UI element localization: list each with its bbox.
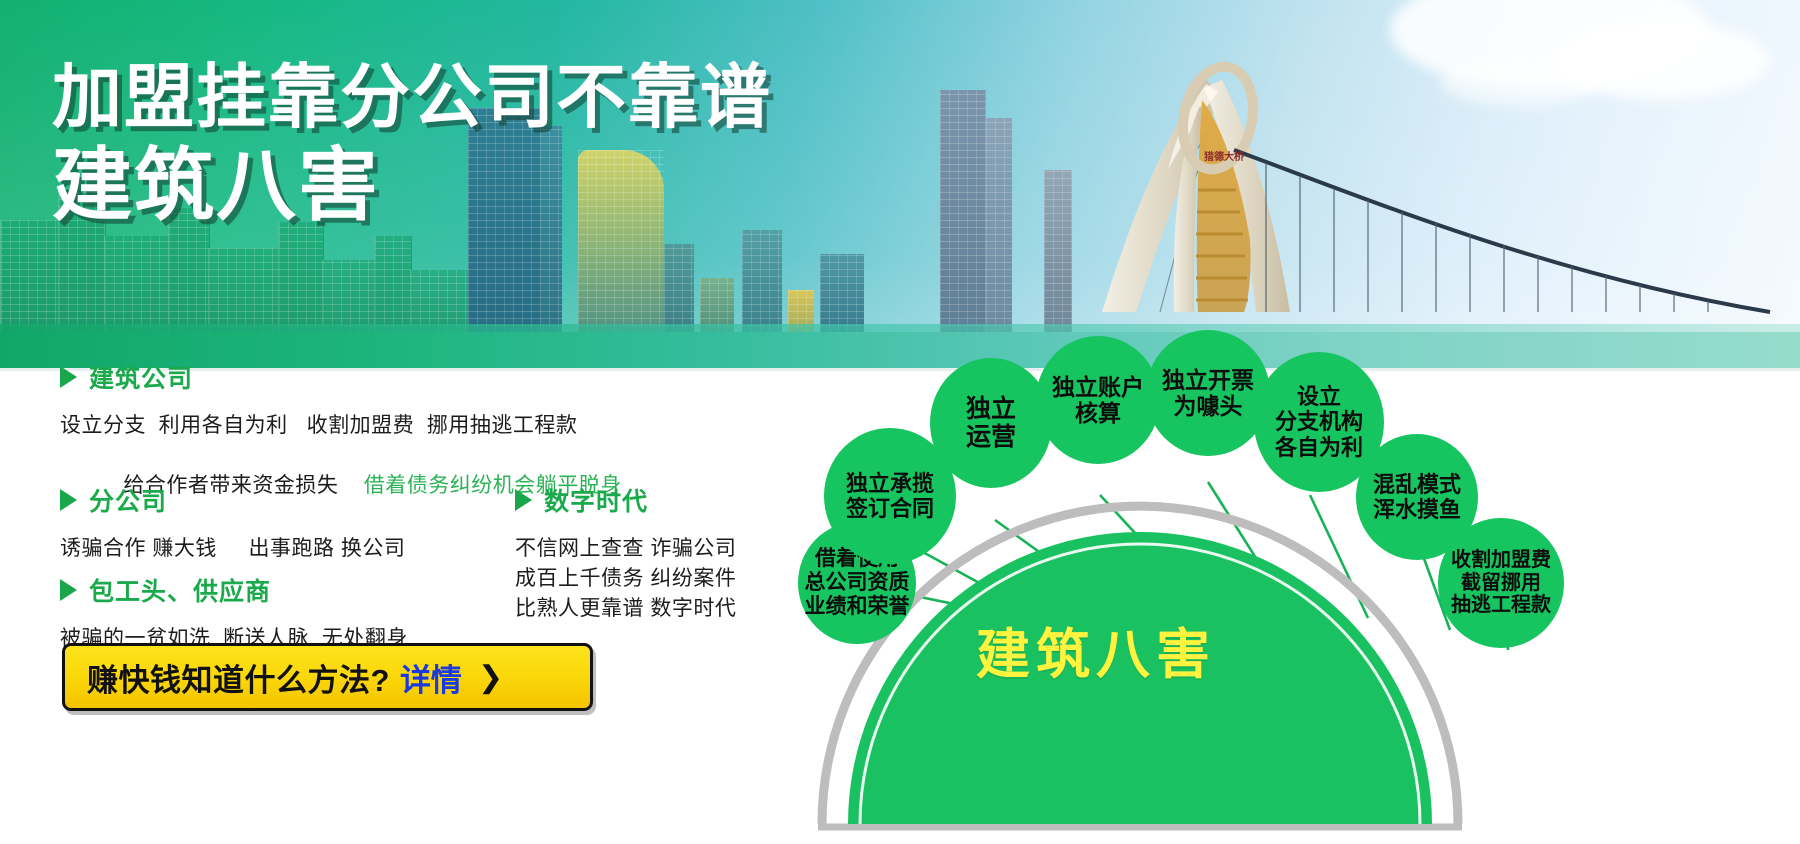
bridge-sign-label: 猎德大桥: [1204, 150, 1245, 163]
section-title: 包工头、供应商: [89, 572, 271, 608]
section-title: 数字时代: [544, 482, 648, 518]
section-title: 分公司: [89, 482, 167, 518]
section-body: 诱骗合作 赚大钱 出事跑路 换公司: [60, 534, 405, 564]
body-line: 不信网上查查 诈骗公司: [515, 534, 736, 564]
bubble-text: 收割加盟费 截留挪用 抽逃工程款: [1451, 549, 1551, 617]
hero-banner: 猎德大桥 加盟挂靠分公司不靠谱 建筑八害: [0, 0, 1800, 368]
dome-label: 建筑八害: [976, 610, 1216, 689]
bubble-item[interactable]: 独立开票 为噱头: [1146, 330, 1270, 456]
section-title: 建筑公司: [89, 359, 193, 395]
section-body: 不信网上查查 诈骗公司 成百上千债务 纠纷案件 比熟人更靠谱 数字时代: [515, 534, 736, 623]
bubble-text: 独立账户 核算: [1052, 374, 1144, 426]
poster-page: 猎德大桥 加盟挂靠分公司不靠谱 建筑八害 建筑公司 设立分支 利用各自为利 收割…: [0, 0, 1800, 844]
bubble-item[interactable]: 收割加盟费 截留挪用 抽逃工程款: [1438, 518, 1564, 648]
cta-button[interactable]: 赚快钱知道什么方法? 详情 ❯: [62, 643, 593, 711]
bubble-text: 独立承揽 签订合同: [846, 471, 934, 521]
section-header: 数字时代: [515, 482, 736, 518]
triangle-right-icon: [60, 579, 77, 601]
body-line: 诱骗合作 赚大钱 出事跑路 换公司: [60, 534, 405, 564]
cta-question: 赚快钱知道什么方法?: [87, 655, 390, 700]
bubble-text: 独立 运营: [966, 395, 1016, 452]
body-line: 成百上千债务 纠纷案件: [515, 564, 736, 594]
body-line: 比熟人更靠谱 数字时代: [515, 594, 736, 624]
triangle-right-icon: [60, 489, 77, 511]
title-line-1: 加盟挂靠分公司不靠谱: [52, 62, 772, 133]
chevron-right-icon: ❯: [478, 660, 503, 695]
triangle-right-icon: [515, 489, 532, 511]
section-header: 分公司: [60, 482, 405, 518]
left-content-panel: 建筑公司 设立分支 利用各自为利 收割加盟费 挪用抽逃工程款 给合作者带来资金损…: [0, 372, 900, 844]
body-line: 设立分支 利用各自为利 收割加盟费 挪用抽逃工程款: [60, 411, 622, 441]
bubble-item[interactable]: 独立账户 核算: [1036, 336, 1160, 464]
section-digital-era: 数字时代 不信网上查查 诈骗公司 成百上千债务 纠纷案件 比熟人更靠谱 数字时代: [515, 482, 736, 623]
bubble-item[interactable]: 独立 运营: [930, 358, 1052, 488]
bubble-text: 独立开票 为噱头: [1162, 367, 1254, 419]
section-branch-company: 分公司 诱骗合作 赚大钱 出事跑路 换公司: [60, 482, 405, 564]
bubble-text: 设立 分支机构 各自为利: [1275, 384, 1363, 459]
page-title: 加盟挂靠分公司不靠谱 建筑八害: [52, 62, 772, 227]
title-line-2: 建筑八害: [52, 145, 772, 227]
bubble-text: 混乱模式 浑水摸鱼: [1373, 472, 1461, 522]
bridge-illustration: 猎德大桥: [990, 40, 1800, 340]
diagram-panel: 建筑八害 借着使用 总公司资质 业绩和荣誉 独立承揽 签订合同 独立 运营 独立…: [790, 330, 1800, 844]
section-contractor-supplier: 包工头、供应商 被骗的一贫如洗 断送人脉 无处翻身: [60, 572, 408, 654]
cta-link-label[interactable]: 详情: [400, 655, 462, 700]
section-header: 包工头、供应商: [60, 572, 408, 608]
triangle-right-icon: [60, 366, 77, 388]
section-header: 建筑公司: [60, 359, 622, 395]
